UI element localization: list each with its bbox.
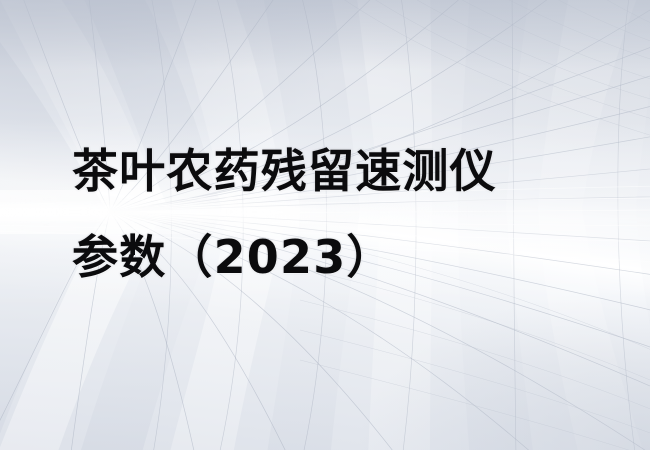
top-shade-band [0,0,650,70]
headline-line-2: 参数（2023） [72,214,592,300]
headline-line-1: 茶叶农药残留速测仪 [72,128,592,214]
headline-block: 茶叶农药残留速测仪 参数（2023） [72,128,592,300]
title-banner: 茶叶农药残留速测仪 参数（2023） [0,0,650,450]
